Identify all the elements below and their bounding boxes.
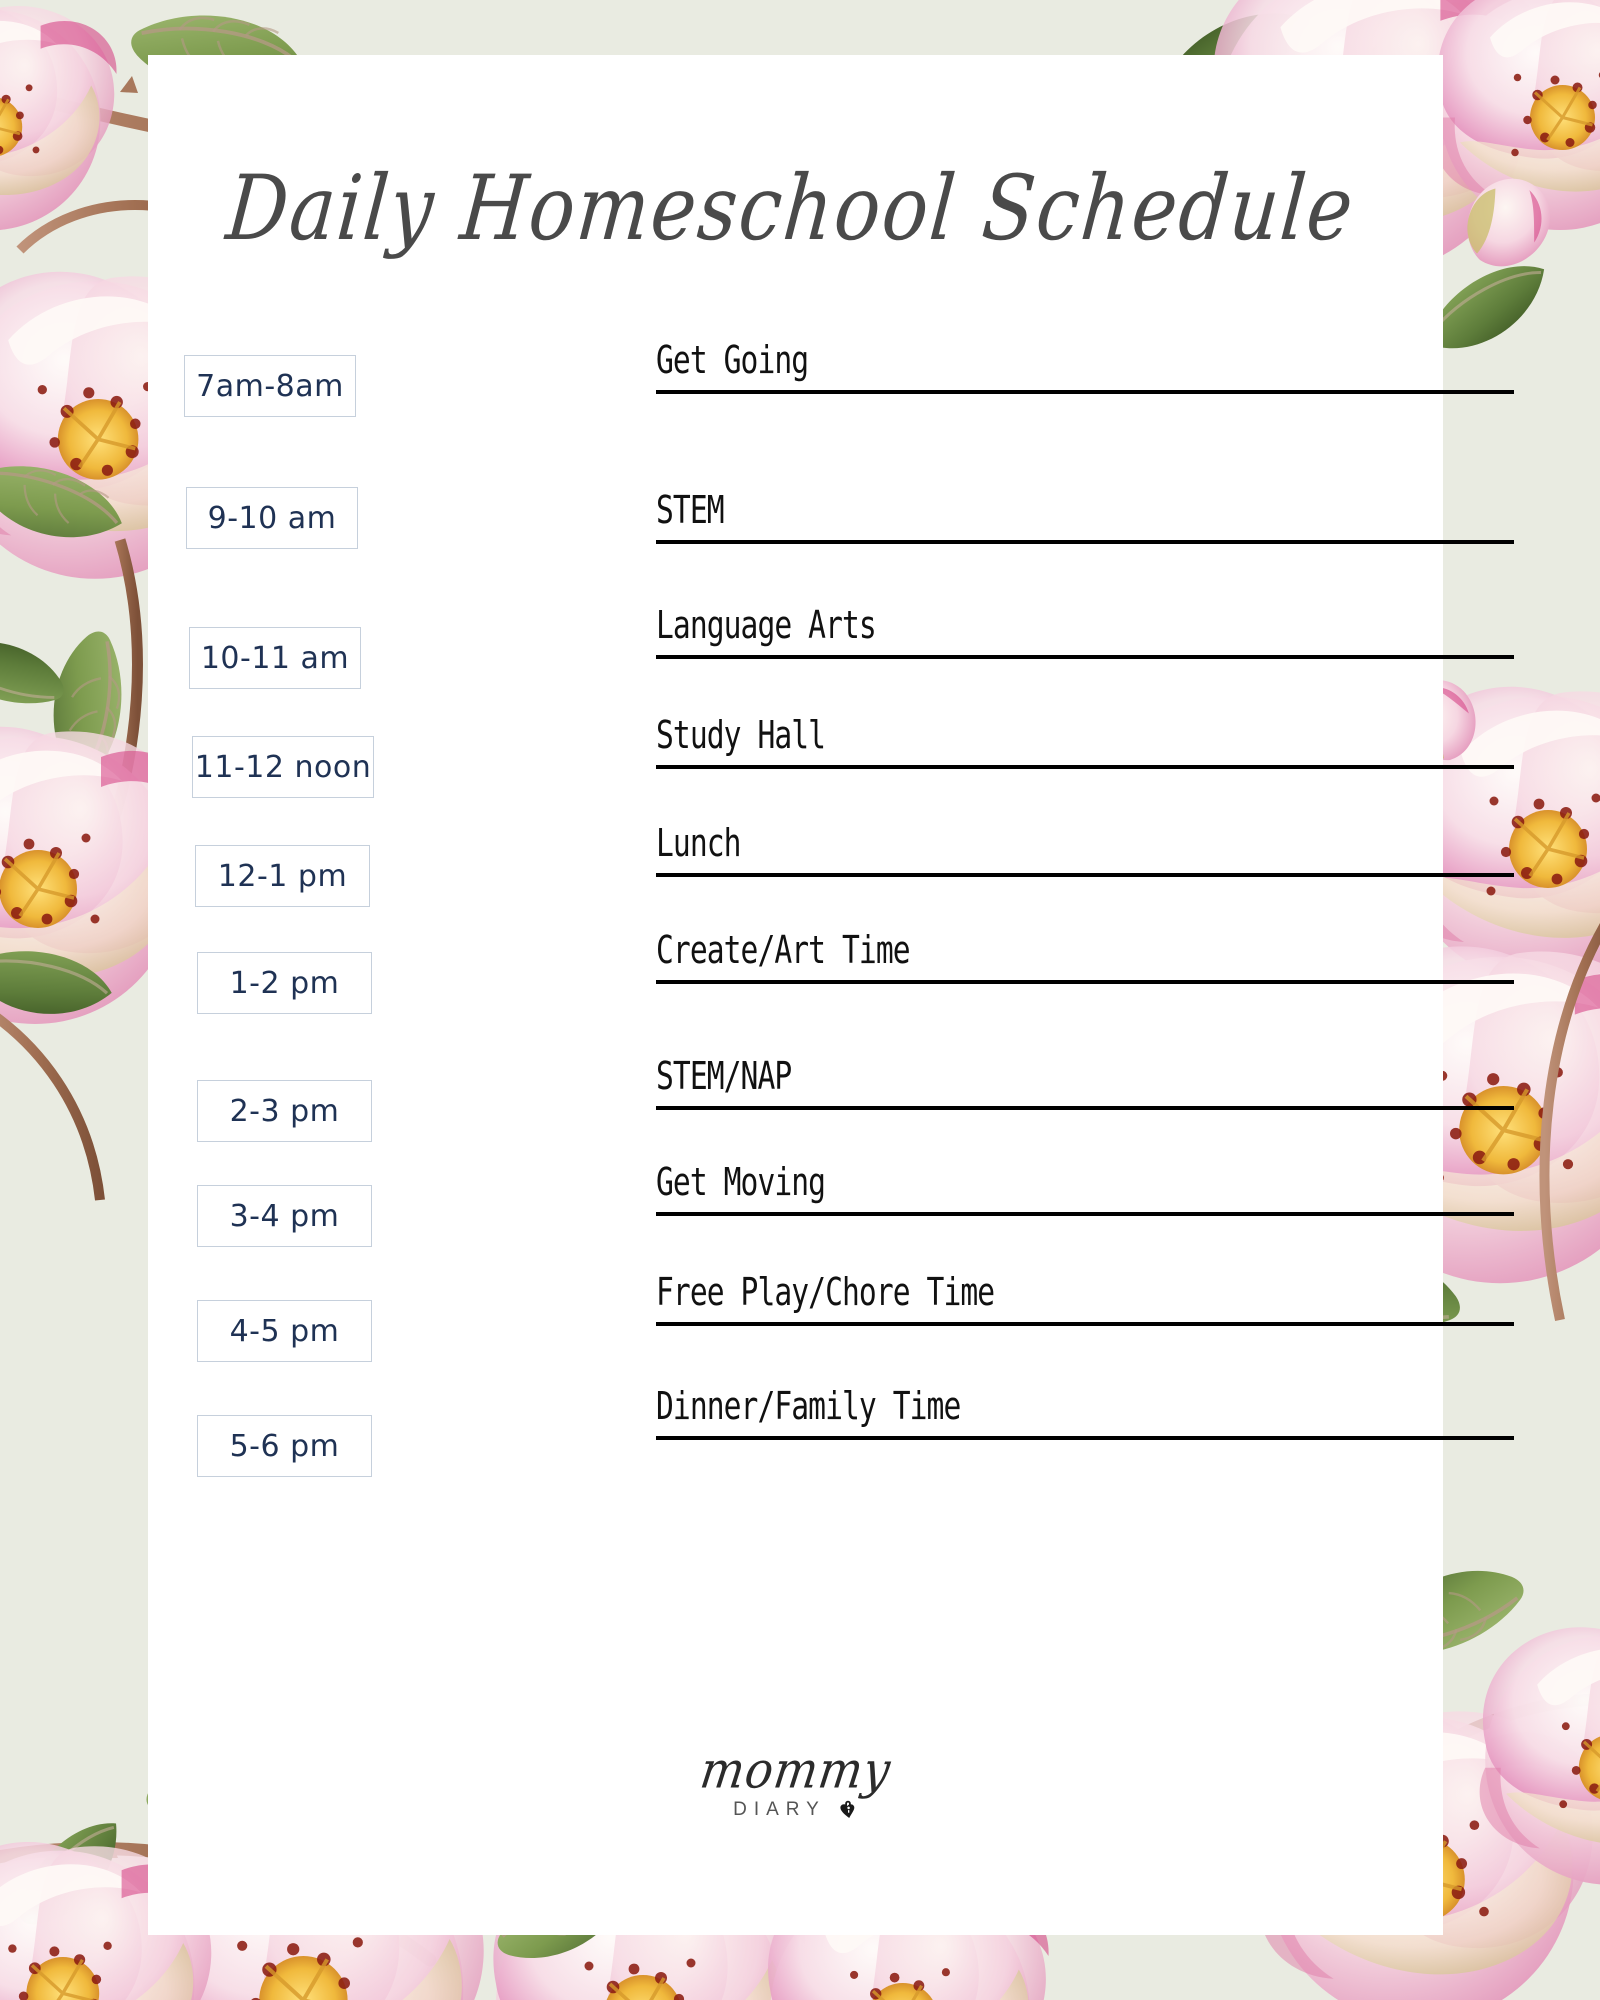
time-chip[interactable]: 9-10 am bbox=[186, 487, 358, 549]
time-chip[interactable]: 7am-8am bbox=[184, 355, 356, 417]
activity-label: Lunch bbox=[656, 824, 1325, 862]
time-chip[interactable]: 1-2 pm bbox=[197, 952, 372, 1014]
activity-label: Create/Art Time bbox=[656, 931, 1325, 969]
activity-underline bbox=[656, 390, 1514, 394]
activity-field[interactable]: Free Play/Chore Time bbox=[656, 1273, 1514, 1326]
brand-subtitle: DIARY bbox=[733, 1799, 826, 1821]
printable-card: Daily Homeschool Schedule 7am-8am Get Go… bbox=[148, 55, 1443, 1935]
activity-field[interactable]: Language Arts bbox=[656, 606, 1514, 659]
time-chip[interactable]: 2-3 pm bbox=[197, 1080, 372, 1142]
activity-label: Get Going bbox=[656, 341, 1325, 379]
activity-label: Get Moving bbox=[656, 1163, 1325, 1201]
activity-field[interactable]: Study Hall bbox=[656, 716, 1514, 769]
brand-script-text: mommy bbox=[697, 1745, 894, 1796]
time-chip[interactable]: 11-12 noon bbox=[192, 736, 374, 798]
activity-label: STEM/NAP bbox=[656, 1057, 1325, 1095]
time-chip[interactable]: 10-11 am bbox=[189, 627, 361, 689]
activity-field[interactable]: Get Moving bbox=[656, 1163, 1514, 1216]
activity-field[interactable]: Get Going bbox=[656, 341, 1514, 394]
activity-label: Free Play/Chore Time bbox=[656, 1273, 1325, 1311]
activity-underline bbox=[656, 980, 1514, 984]
activity-underline bbox=[656, 1212, 1514, 1216]
activity-label: Study Hall bbox=[656, 716, 1325, 754]
activity-underline bbox=[656, 765, 1514, 769]
activity-underline bbox=[656, 1436, 1514, 1440]
time-chip[interactable]: 12-1 pm bbox=[195, 845, 370, 907]
brand-logo: mommy DIARY bbox=[148, 1747, 1443, 1823]
activity-label: STEM bbox=[656, 491, 1325, 529]
heart-lock-icon bbox=[838, 1797, 858, 1823]
activity-field[interactable]: Dinner/Family Time bbox=[656, 1387, 1514, 1440]
activity-label: Dinner/Family Time bbox=[656, 1387, 1325, 1425]
activity-underline bbox=[656, 540, 1514, 544]
time-chip[interactable]: 5-6 pm bbox=[197, 1415, 372, 1477]
page-title: Daily Homeschool Schedule bbox=[139, 155, 1443, 260]
activity-field[interactable]: STEM bbox=[656, 491, 1514, 544]
activity-underline bbox=[656, 1106, 1514, 1110]
activity-field[interactable]: Create/Art Time bbox=[656, 931, 1514, 984]
time-chip[interactable]: 4-5 pm bbox=[197, 1300, 372, 1362]
time-chip[interactable]: 3-4 pm bbox=[197, 1185, 372, 1247]
activity-underline bbox=[656, 655, 1514, 659]
activity-underline bbox=[656, 1322, 1514, 1326]
activity-underline bbox=[656, 873, 1514, 877]
activity-field[interactable]: STEM/NAP bbox=[656, 1057, 1514, 1110]
activity-field[interactable]: Lunch bbox=[656, 824, 1514, 877]
activity-label: Language Arts bbox=[656, 606, 1325, 644]
